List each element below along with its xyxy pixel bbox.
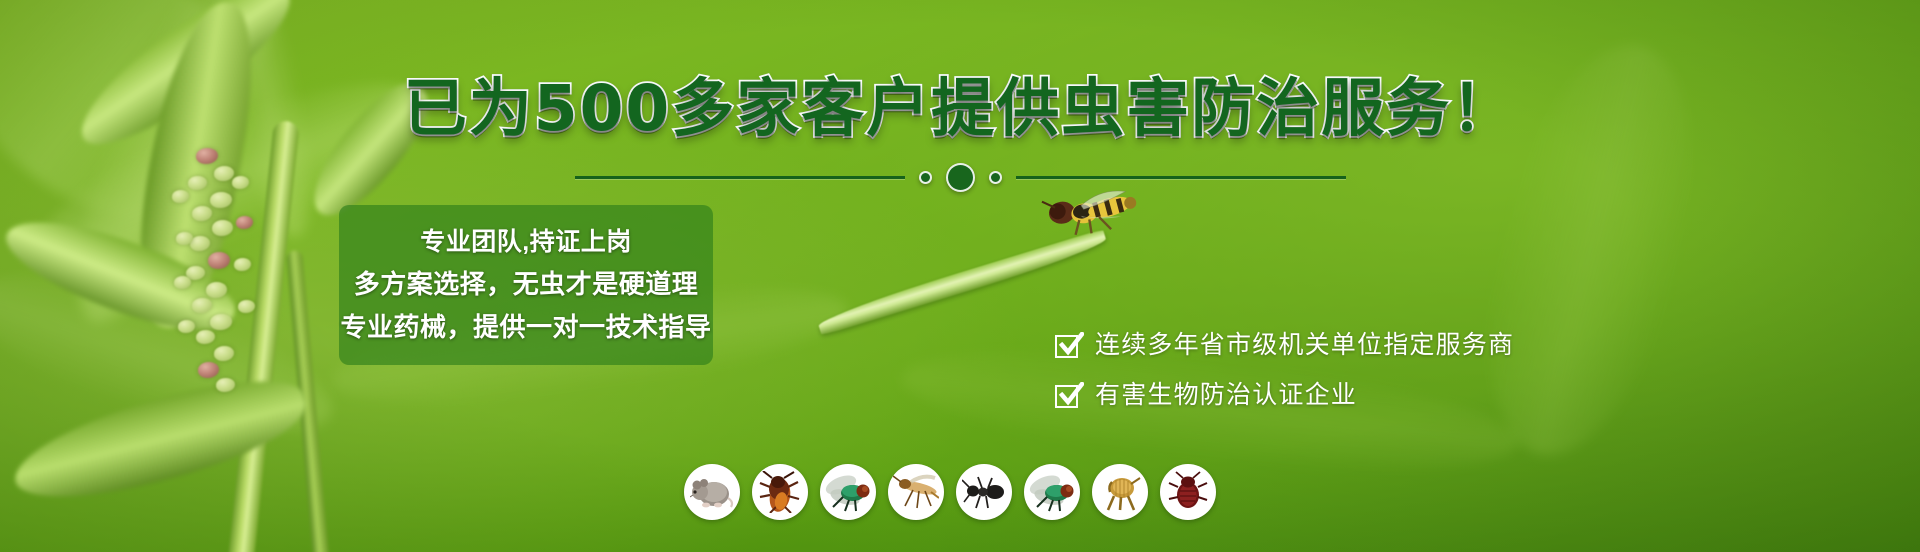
credential-bullet-text: 连续多年省市级机关单位指定服务商: [1095, 330, 1514, 360]
selling-point-line-3: 专业药械，提供一对一技术指导: [341, 310, 712, 344]
selling-point-line-1: 专业团队,持证上岗: [420, 226, 631, 258]
blowfly-icon[interactable]: [1024, 464, 1080, 520]
pest-icon-row: [684, 464, 1216, 520]
credential-bullet: 有害生物防治认证企业: [1055, 380, 1514, 410]
divider-dot-small-right: [989, 171, 1002, 184]
cockroach-icon[interactable]: [752, 464, 808, 520]
divider-rule-right: [1016, 176, 1346, 179]
promo-banner: 已为500多家客户提供虫害防治服务！ 专业团队,持证上岗 多方案选择，无虫才是硬…: [0, 0, 1920, 552]
plant-leaf: [5, 365, 315, 515]
plant-bud: [238, 300, 255, 313]
selling-points-panel: 专业团队,持证上岗 多方案选择，无虫才是硬道理 专业药械，提供一对一技术指导: [339, 205, 713, 365]
divider-rule-left: [575, 176, 905, 179]
plant-bud: [212, 220, 233, 236]
plant-bud: [208, 252, 230, 269]
plant-bud: [178, 320, 195, 333]
rodent-icon[interactable]: [684, 464, 740, 520]
divider-dot-small-left: [919, 171, 932, 184]
plant-bud: [210, 314, 232, 330]
plant-bud: [234, 258, 251, 271]
plant-bud: [214, 346, 234, 361]
divider-dot-large: [946, 163, 975, 192]
selling-point-line-2: 多方案选择，无虫才是硬道理: [354, 267, 699, 301]
bedbug-icon[interactable]: [1160, 464, 1216, 520]
credential-bullet-text: 有害生物防治认证企业: [1095, 380, 1357, 410]
page-title-text: 已为500多家客户提供虫害防治服务！: [404, 72, 1517, 145]
plant-bud: [198, 362, 219, 378]
ant-icon[interactable]: [956, 464, 1012, 520]
page-title: 已为500多家客户提供虫害防治服务！: [0, 74, 1920, 144]
check-box-icon: [1055, 332, 1082, 359]
credential-bullet: 连续多年省市级机关单位指定服务商: [1055, 330, 1514, 360]
mosquito-icon[interactable]: [888, 464, 944, 520]
decorative-divider: [0, 160, 1920, 194]
flea-icon[interactable]: [1092, 464, 1148, 520]
credential-bullets: 连续多年省市级机关单位指定服务商 有害生物防治认证企业: [1055, 330, 1514, 410]
check-box-icon: [1055, 382, 1082, 409]
plant-bud: [236, 216, 253, 229]
plant-bud: [196, 330, 215, 344]
fly-icon[interactable]: [820, 464, 876, 520]
